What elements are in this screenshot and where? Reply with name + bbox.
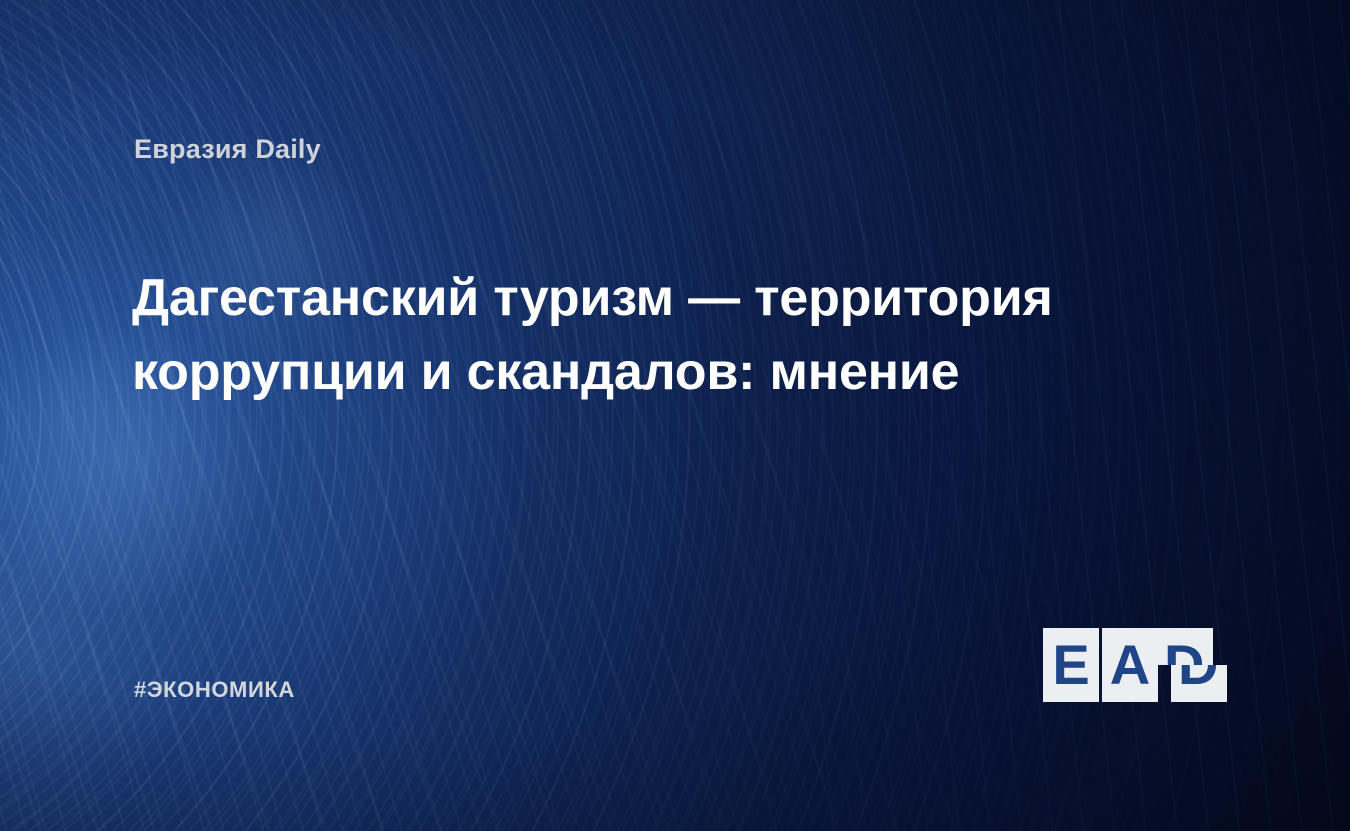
logo-tile-d: D D <box>1161 628 1217 702</box>
brand-wordmark: Евразия Daily <box>134 134 321 165</box>
logo-tile-d-top-glyph: D <box>1164 628 1204 665</box>
logo-tile-d-bottom-half: D <box>1171 665 1227 702</box>
category-tag: #ЭКОНОМИКА <box>134 677 295 703</box>
eadaily-logo: E A D D <box>1043 628 1217 702</box>
page-title: Дагестанский туризм — территория коррупц… <box>132 262 1122 410</box>
article-share-card: Евразия Daily Дагестанский туризм — терр… <box>0 0 1350 831</box>
logo-tile-e: E <box>1043 628 1099 702</box>
logo-tile-d-top-half: D <box>1157 628 1213 665</box>
card-content: Евразия Daily Дагестанский туризм — терр… <box>0 0 1350 831</box>
logo-tile-d-bottom-glyph: D <box>1178 665 1218 702</box>
logo-tile-a: A <box>1102 628 1158 702</box>
